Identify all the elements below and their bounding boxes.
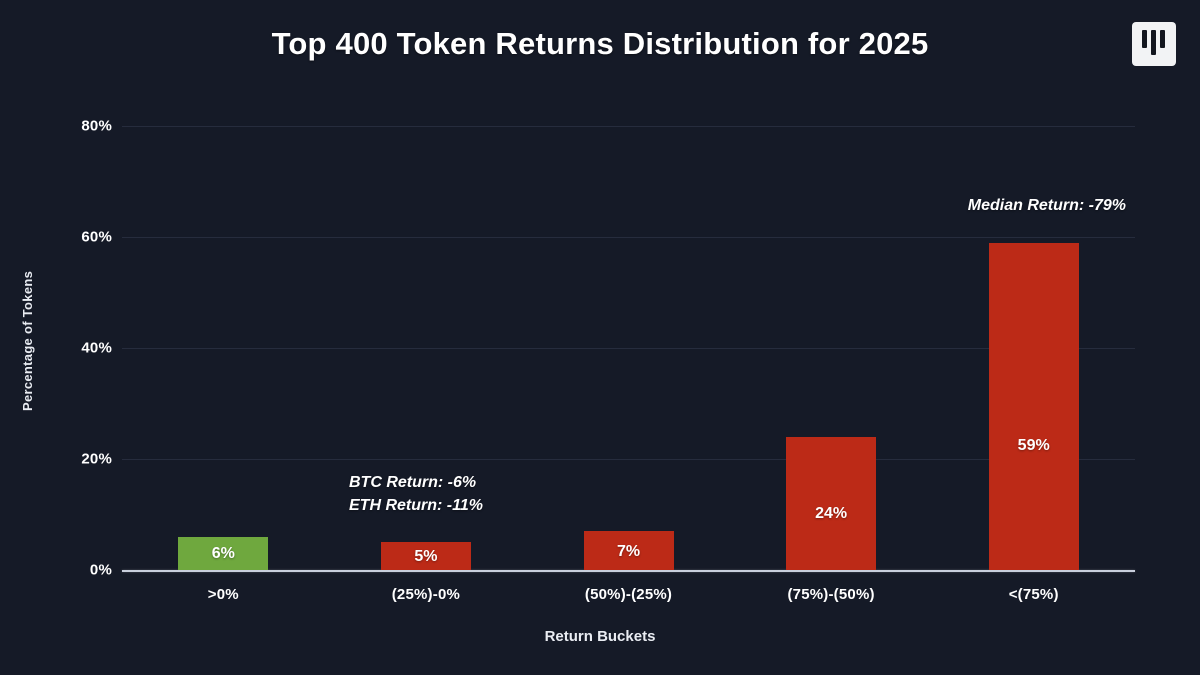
bar-slot: 7% — [584, 126, 674, 570]
bar[interactable] — [989, 243, 1079, 570]
y-tick-label: 60% — [52, 229, 112, 246]
annotation-median-return: Median Return: -79% — [968, 197, 1126, 215]
plot-area: 6%5%7%24%59% — [122, 126, 1135, 570]
x-tick-label: (75%)-(50%) — [721, 586, 941, 603]
x-axis-title: Return Buckets — [0, 628, 1200, 645]
bar-slot: 59% — [989, 126, 1079, 570]
x-tick-label: <(75%) — [924, 586, 1144, 603]
x-tick-label: (25%)-0% — [316, 586, 536, 603]
bar-slot: 24% — [786, 126, 876, 570]
y-tick-label: 40% — [52, 340, 112, 357]
logo-bar-right — [1160, 30, 1165, 48]
bar-value-label: 5% — [381, 548, 471, 566]
logo-bars — [1141, 30, 1167, 60]
annotation-eth-return: ETH Return: -11% — [349, 497, 483, 515]
y-tick-label: 20% — [52, 451, 112, 468]
bar-value-label: 59% — [989, 437, 1079, 455]
page-title: Top 400 Token Returns Distribution for 2… — [0, 26, 1200, 62]
brand-logo-icon — [1132, 22, 1176, 66]
axis-baseline — [122, 570, 1135, 572]
logo-bar-left — [1142, 30, 1147, 48]
chart-header: Top 400 Token Returns Distribution for 2… — [0, 0, 1200, 92]
annotation-btc-return: BTC Return: -6% — [349, 474, 476, 492]
bar-slot: 6% — [178, 126, 268, 570]
y-tick-label: 0% — [52, 562, 112, 579]
y-tick-label: 80% — [52, 118, 112, 135]
x-tick-label: >0% — [113, 586, 333, 603]
bar[interactable] — [786, 437, 876, 570]
bar-value-label: 6% — [178, 545, 268, 563]
x-tick-label: (50%)-(25%) — [519, 586, 739, 603]
logo-bar-middle — [1151, 30, 1156, 55]
bar-value-label: 24% — [786, 505, 876, 523]
y-axis-title: Percentage of Tokens — [20, 236, 36, 446]
bar-value-label: 7% — [584, 543, 674, 561]
